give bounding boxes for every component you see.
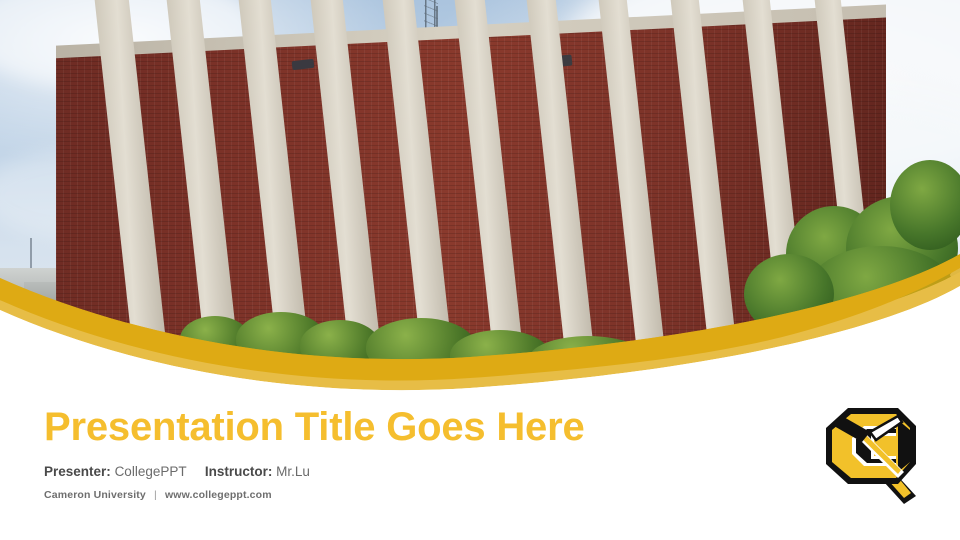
window-ledge	[447, 385, 491, 390]
window-ledge	[735, 349, 776, 353]
window-ledge	[159, 386, 206, 391]
instructor-label: Instructor:	[205, 464, 273, 479]
window-ledge	[591, 385, 633, 390]
background-building	[0, 296, 40, 326]
window-ledge	[735, 385, 776, 389]
affiliation-line: Cameron University | www.collegeppt.com	[44, 488, 744, 502]
window-ledge	[87, 386, 135, 391]
window-ledge	[375, 385, 420, 390]
title-content-block: Presentation Title Goes Here Presenter: …	[44, 404, 744, 502]
window-ledge	[663, 385, 704, 389]
window-ledge	[303, 385, 348, 390]
cameron-university-logo	[812, 402, 928, 506]
shrub	[636, 338, 766, 388]
title-slide: Presentation Title Goes Here Presenter: …	[0, 0, 960, 540]
window	[602, 364, 622, 366]
campus-building-photo	[0, 0, 960, 400]
window-ledge	[807, 349, 847, 353]
window	[818, 328, 836, 330]
presenter-label: Presenter:	[44, 464, 111, 479]
tree	[890, 160, 960, 250]
window-ledge	[231, 386, 277, 391]
instructor-name: Mr.Lu	[276, 464, 310, 479]
page-title: Presentation Title Goes Here	[44, 404, 744, 450]
window-ledge	[807, 385, 847, 389]
window	[818, 364, 836, 366]
shrub	[528, 336, 648, 384]
window	[170, 365, 195, 368]
separator: |	[149, 489, 162, 501]
presenter-name: CollegePPT	[115, 464, 187, 479]
university-name: Cameron University	[44, 489, 146, 501]
window	[98, 365, 124, 368]
window	[674, 364, 693, 366]
website-url[interactable]: www.collegeppt.com	[165, 489, 272, 501]
window-ledge	[519, 385, 562, 390]
window-ledge	[87, 350, 135, 355]
window	[746, 364, 765, 366]
tree	[744, 254, 834, 334]
byline: Presenter: CollegePPT Instructor: Mr.Lu	[44, 463, 744, 480]
